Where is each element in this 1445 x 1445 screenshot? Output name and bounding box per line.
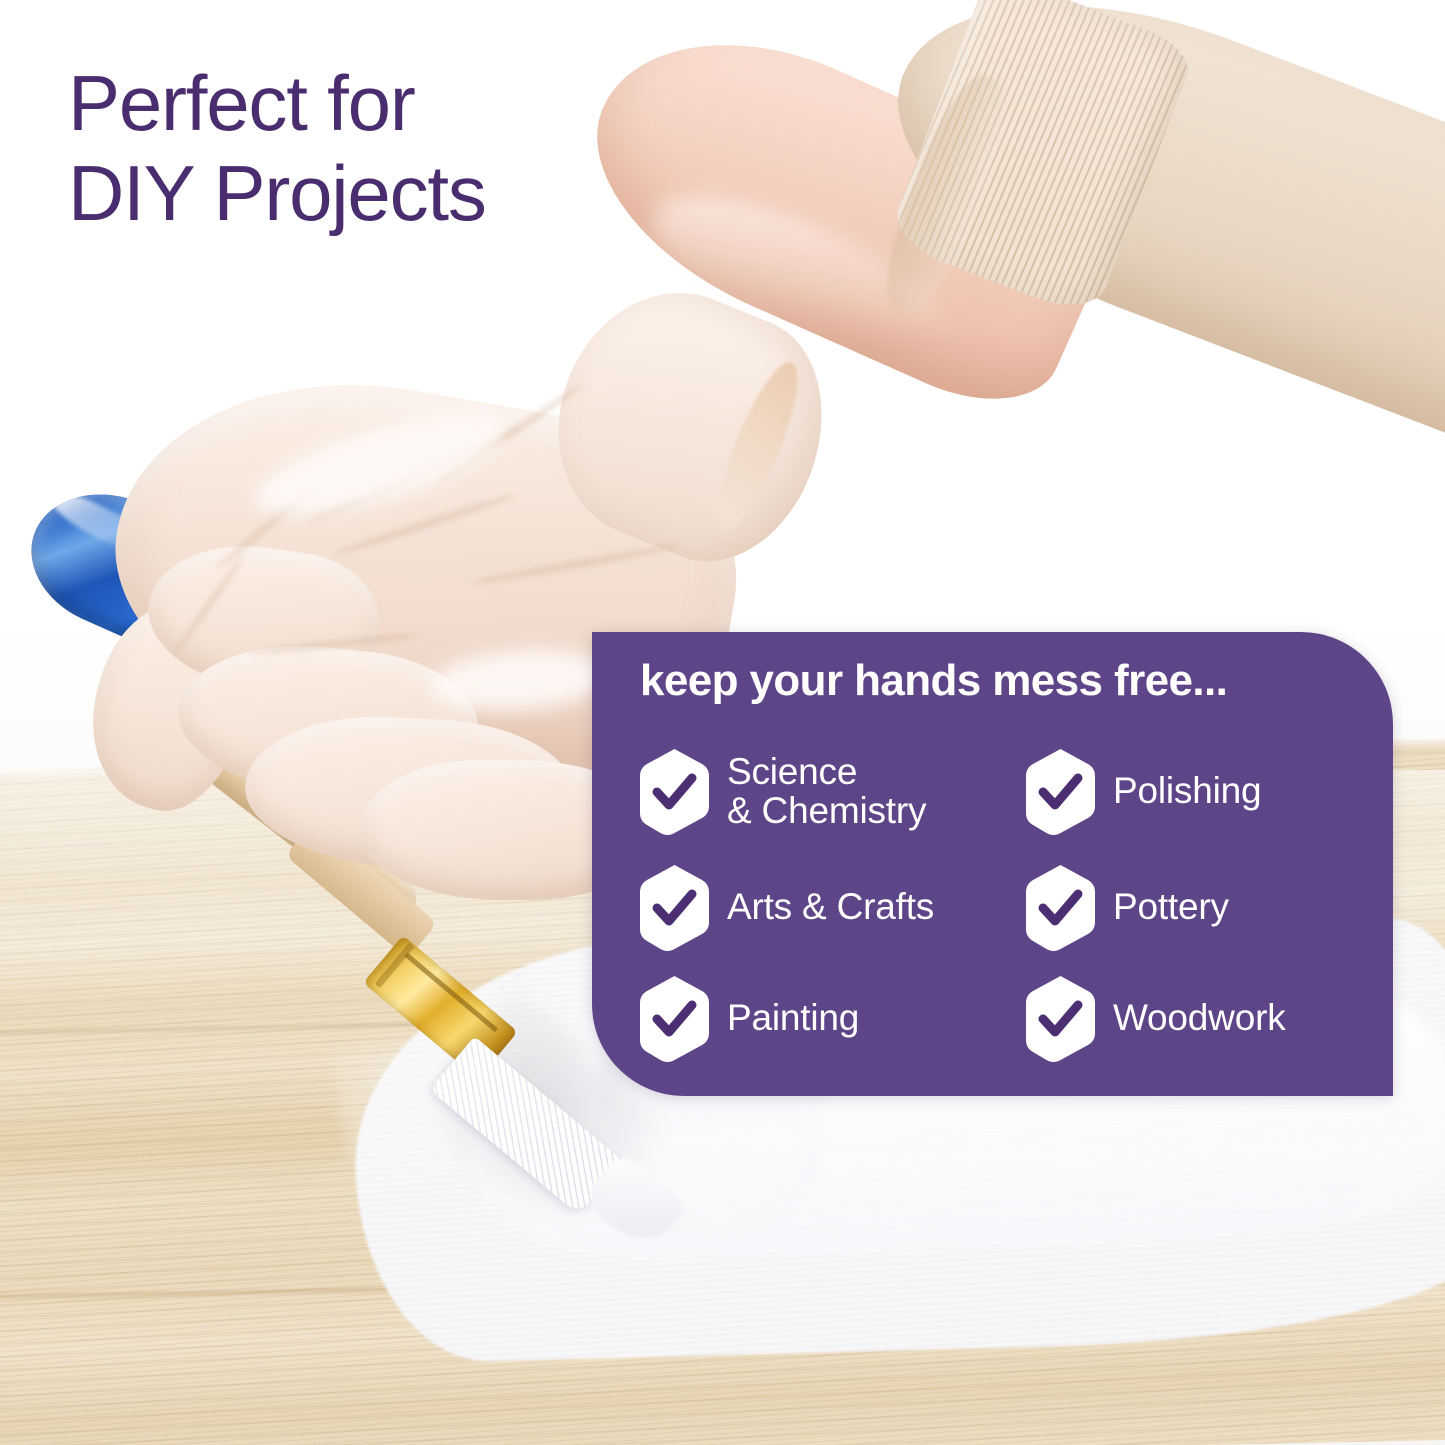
feature-item-painting: Painting: [638, 974, 1024, 1062]
feature-item-woodwork: Woodwork: [1024, 974, 1358, 1062]
feature-item-science-chemistry: Science & Chemistry: [638, 747, 1024, 835]
check-icon: [638, 863, 711, 951]
check-icon: [638, 974, 711, 1062]
feature-label: Painting: [727, 998, 859, 1037]
feature-label: Arts & Crafts: [727, 887, 934, 926]
product-feature-image: Perfect for DIY Projects keep your hands…: [0, 0, 1445, 1445]
feature-label: Polishing: [1113, 771, 1261, 810]
page-title: Perfect for DIY Projects: [68, 58, 486, 239]
features-panel-title: keep your hands mess free...: [640, 656, 1227, 706]
features-grid: Science & Chemistry Polishing: [638, 730, 1358, 1074]
check-icon: [1024, 974, 1097, 1062]
check-icon: [638, 747, 711, 835]
feature-item-pottery: Pottery: [1024, 863, 1358, 951]
check-icon: [1024, 863, 1097, 951]
feature-item-arts-crafts: Arts & Crafts: [638, 863, 1024, 951]
feature-label: Woodwork: [1113, 998, 1286, 1037]
feature-item-polishing: Polishing: [1024, 747, 1358, 835]
features-panel: keep your hands mess free... Science & C…: [592, 632, 1393, 1096]
feature-label: Science & Chemistry: [727, 752, 926, 830]
check-icon: [1024, 747, 1097, 835]
feature-label: Pottery: [1113, 887, 1229, 926]
